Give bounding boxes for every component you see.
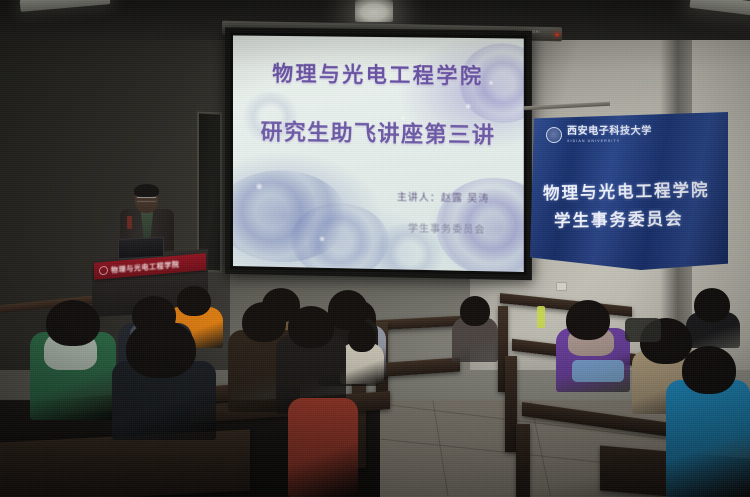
slide-organizer-line: 学生事务委员会 — [245, 217, 512, 237]
lectern-seal-icon — [99, 266, 108, 276]
audience-member-torso — [288, 398, 358, 497]
presenter-laptop — [118, 237, 164, 259]
audience-member — [452, 296, 498, 362]
presentation-slide: 物理与光电工程学院 研究生助飞讲座第三讲 主讲人：赵露 吴涛 学生事务委员会 — [233, 35, 524, 272]
slide-presenter-line: 主讲人：赵露 吴涛 — [245, 186, 512, 206]
audience-member-head — [566, 300, 610, 340]
water-bottle — [537, 306, 545, 328]
floor-tile-line — [432, 401, 448, 497]
audience-member — [112, 320, 216, 440]
desk-side-panel — [516, 424, 530, 497]
pencil-pouch — [572, 360, 624, 382]
banner-logo-row: 西安电子科技大学 XIDIAN UNIVERSITY — [546, 127, 718, 143]
audience-member-head — [348, 322, 376, 352]
audience-member-head — [682, 346, 736, 394]
audience-member-head — [126, 320, 196, 378]
audience-member — [340, 322, 384, 384]
slide-title-line-2: 研究生助飞讲座第三讲 — [245, 114, 512, 150]
slide-title-line-1: 物理与光电工程学院 — [245, 57, 512, 90]
banner-university-name-cn: 西安电子科技大学 — [567, 127, 652, 138]
audience-member — [666, 346, 750, 497]
audience-member — [30, 300, 116, 420]
projector-led-indicator — [555, 33, 559, 36]
university-seal-icon — [546, 127, 562, 143]
lecture-hall-photo: MITSUBISHI 物理与光电工程学院 研究生助飞讲座第三讲 主讲人：赵露 吴… — [0, 0, 750, 497]
banner-text-line-2: 学生事务委员会 — [554, 205, 722, 232]
ceiling-light-center — [355, 0, 393, 22]
audience-member-head — [460, 296, 490, 326]
audience-member-head — [288, 306, 334, 348]
presenter-jacket-accent — [127, 216, 132, 229]
audience-member-head — [46, 300, 100, 346]
wall-outlet — [556, 282, 567, 291]
banner-university-name-en: XIDIAN UNIVERSITY — [567, 139, 652, 143]
banner-text-line-1: 物理与光电工程学院 — [543, 176, 722, 204]
glasses-icon — [137, 197, 156, 202]
presenter-hair — [134, 184, 159, 197]
audience-member-torso — [666, 380, 750, 497]
audience-member-head — [694, 288, 730, 322]
lectern-sign-text: 物理与光电工程学院 — [111, 259, 180, 275]
backpack — [625, 318, 661, 342]
projection-screen: 物理与光电工程学院 研究生助飞讲座第三讲 主讲人：赵露 吴涛 学生事务委员会 — [225, 27, 532, 280]
department-banner: 西安电子科技大学 XIDIAN UNIVERSITY 物理与光电工程学院 学生事… — [530, 112, 728, 270]
projection-screen-surface: 物理与光电工程学院 研究生助飞讲座第三讲 主讲人：赵露 吴涛 学生事务委员会 — [233, 35, 524, 272]
audience-member — [288, 398, 358, 497]
